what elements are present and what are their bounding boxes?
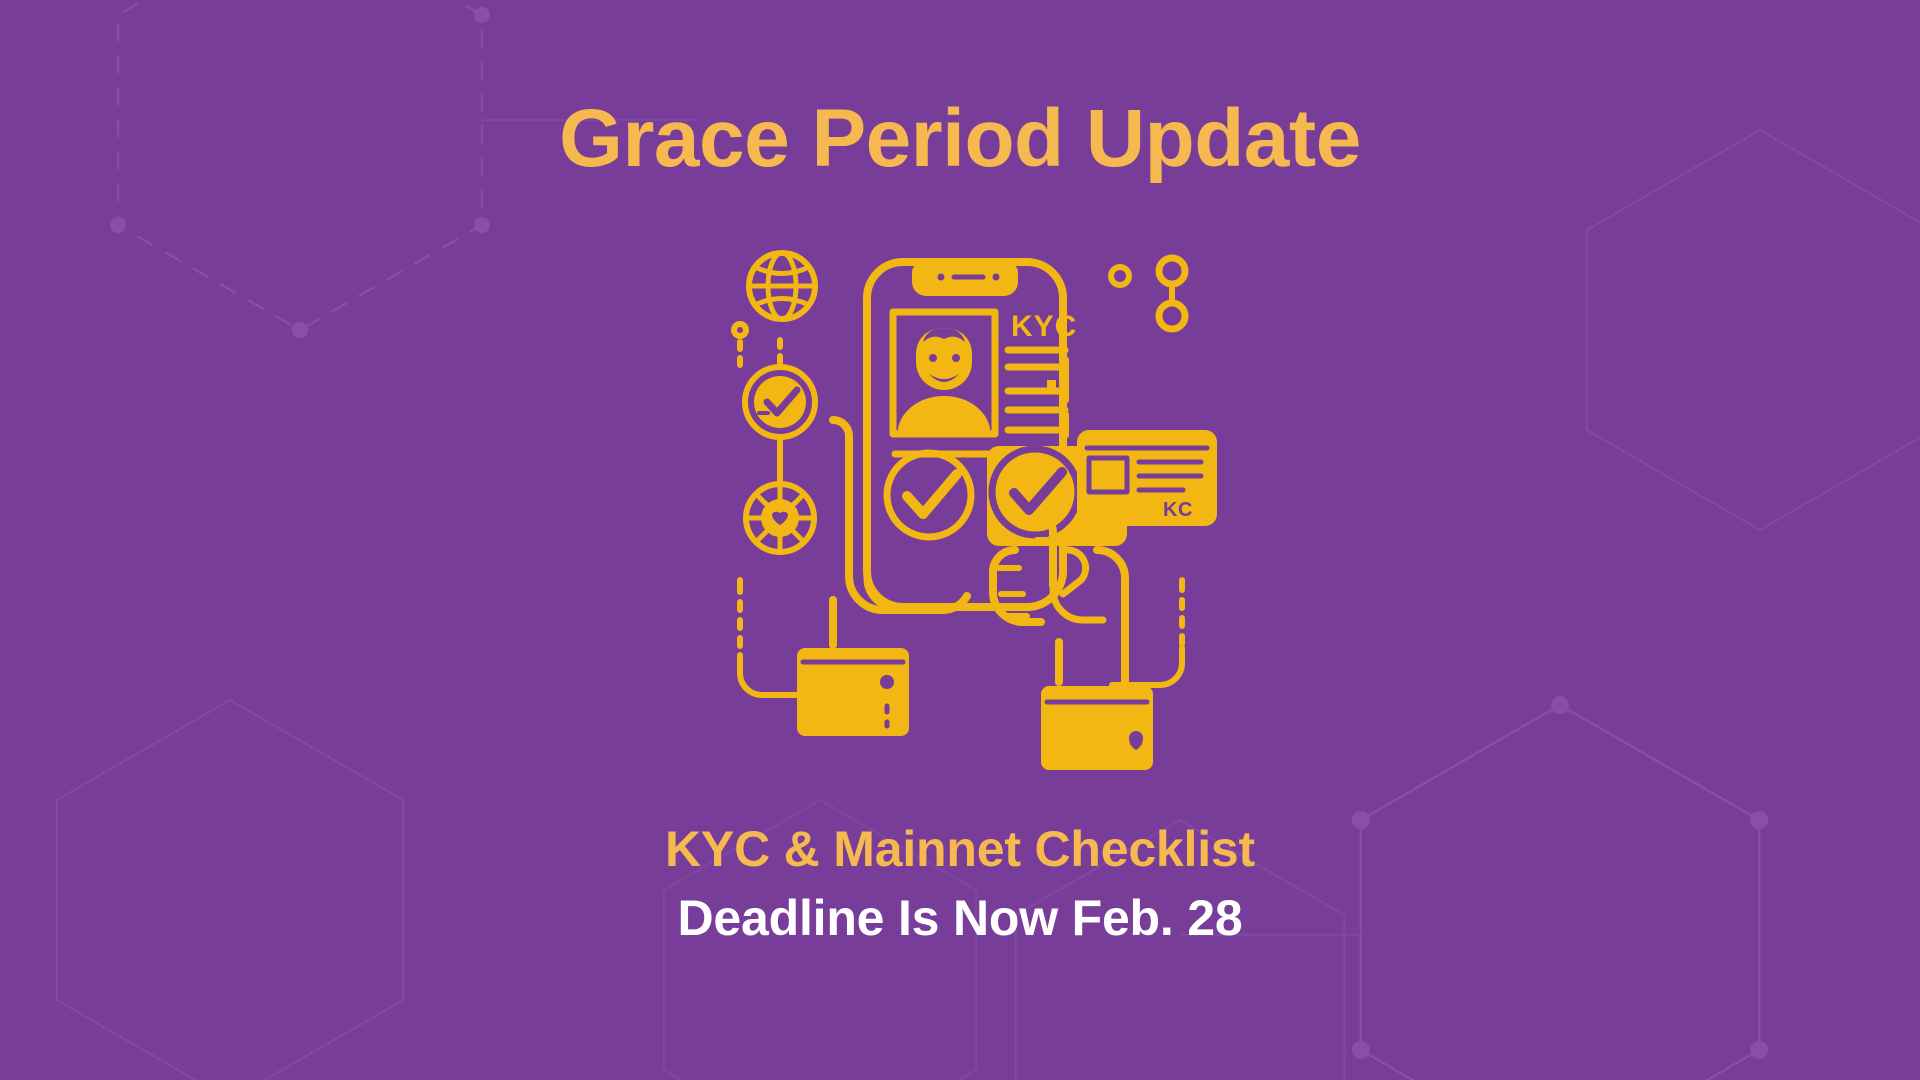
promo-banner: Grace Period Update: [0, 0, 1920, 1080]
page-title: Grace Period Update: [0, 96, 1920, 182]
user-portrait: [893, 312, 995, 434]
kyc-verification-illustration: KYC: [715, 250, 1235, 770]
check-circle-filled-icon: [992, 449, 1078, 535]
lifebuoy-heart-icon: [746, 484, 814, 552]
subheadline: KYC & Mainnet Checklist: [0, 820, 1920, 879]
hand-pointing-finger: [993, 516, 1153, 770]
globe-icon: [749, 253, 815, 319]
svg-text:KC: KC: [1163, 499, 1193, 521]
node-link-icon: [1159, 258, 1185, 329]
phone-kyc-label: KYC: [1011, 310, 1077, 343]
small-ring-icon: [1111, 267, 1129, 285]
hand-holding-phone: [797, 420, 967, 736]
deadline-text: Deadline Is Now Feb. 28: [0, 889, 1920, 948]
svg-text:KYC: KYC: [1011, 310, 1077, 343]
hexagon-upper-right: [1587, 130, 1920, 530]
footer-text-block: KYC & Mainnet Checklist Deadline Is Now …: [0, 820, 1920, 948]
check-circle-icon: [887, 453, 971, 537]
verified-badge-icon: [745, 367, 815, 437]
id-card: KC: [1077, 430, 1217, 526]
